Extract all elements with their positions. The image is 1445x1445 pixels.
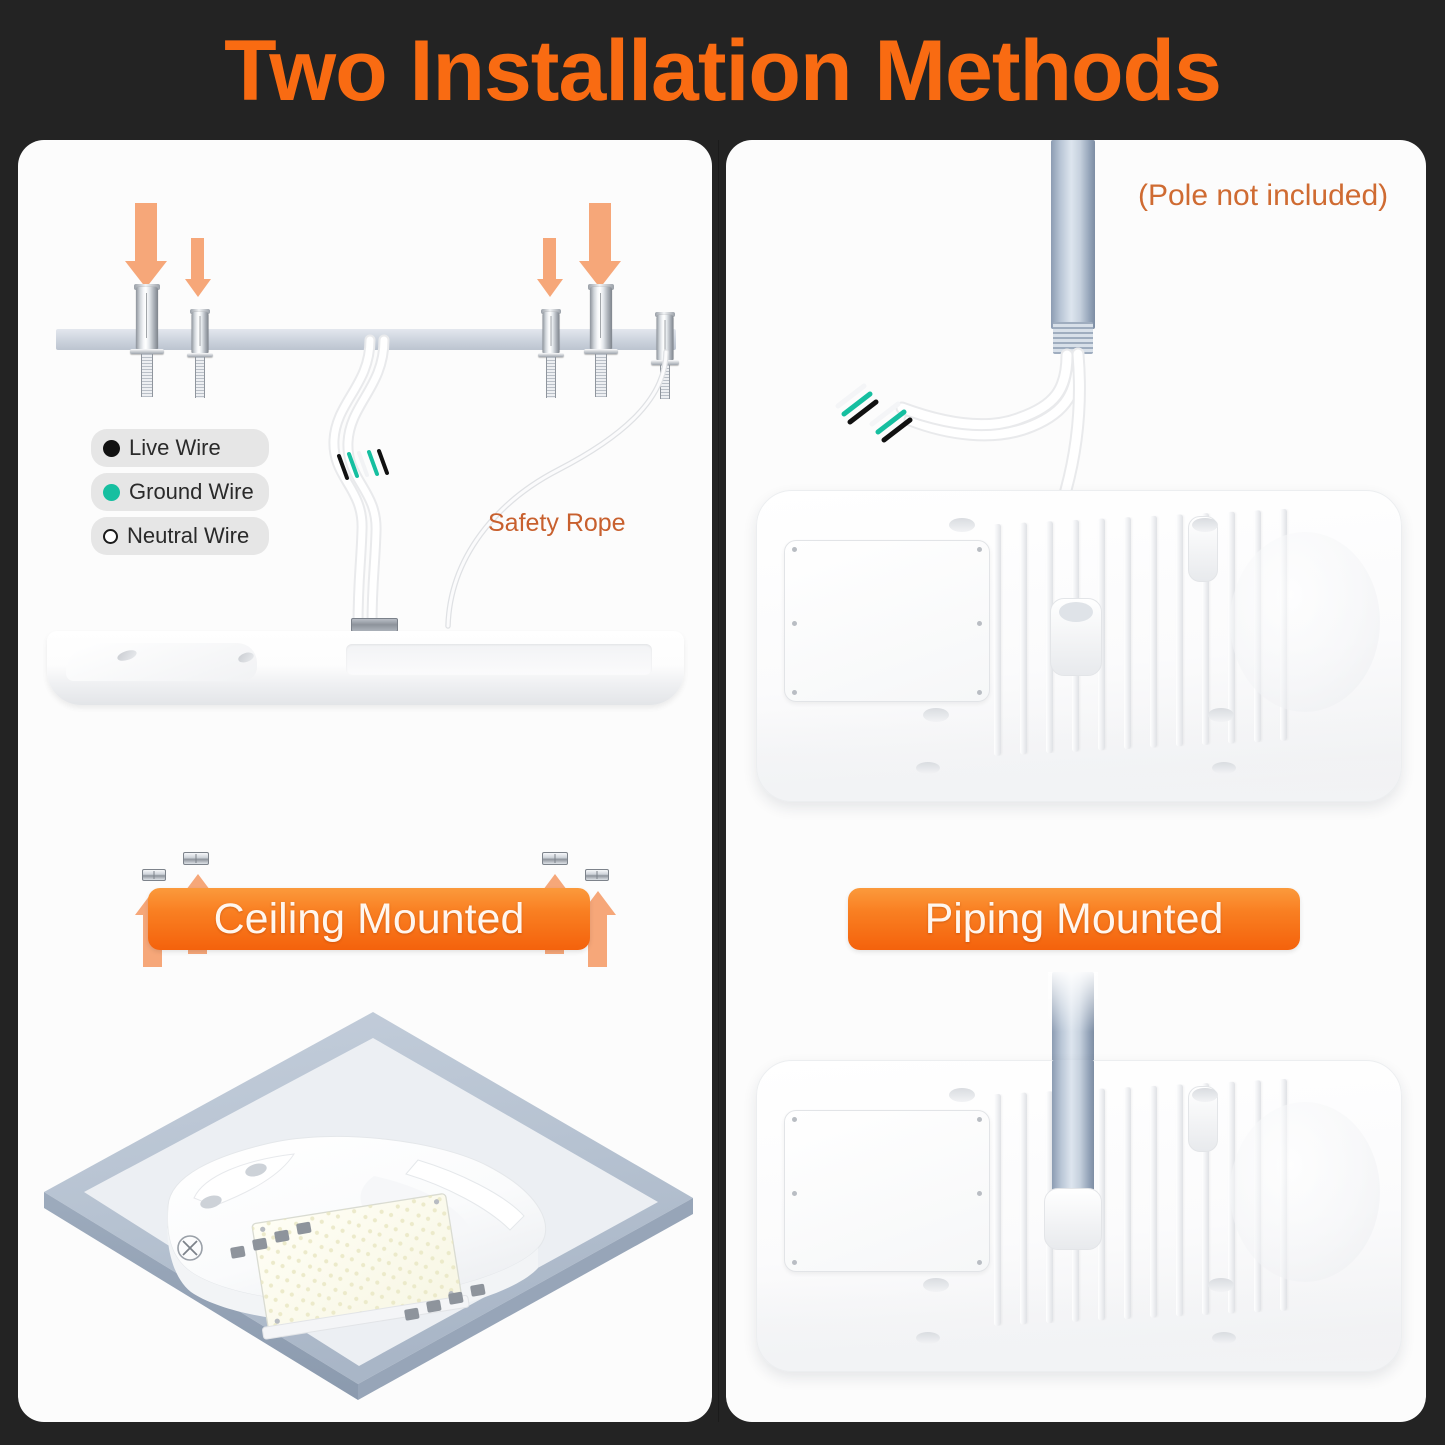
cable-gland-boss — [1044, 1188, 1102, 1250]
pole-inserted-segment — [1052, 1060, 1094, 1200]
pole-fade-mask — [1048, 972, 1098, 1032]
junction-box-cover — [784, 1110, 990, 1272]
reflector-dome — [1230, 532, 1380, 712]
fixture-side-profile — [47, 631, 684, 705]
panel-divider — [718, 140, 719, 1422]
cover-screw — [792, 547, 797, 552]
mount-hole-tr — [1192, 518, 1218, 532]
cover-screw — [792, 1191, 797, 1196]
mount-hole-bl — [923, 708, 949, 722]
lock-nut-4 — [585, 869, 609, 881]
lock-nut-1 — [142, 869, 166, 881]
skirt-hole-left — [916, 762, 940, 774]
skirt-hole-left — [916, 1332, 940, 1344]
cover-screw — [977, 1191, 982, 1196]
cover-screw — [792, 690, 797, 695]
pole-not-included-label: (Pole not included) — [1138, 179, 1388, 213]
skirt-hole-right — [1212, 762, 1236, 774]
lock-nut-2 — [183, 852, 209, 865]
mount-hole-bl — [923, 1278, 949, 1292]
mount-hole-tl — [949, 518, 975, 532]
banner-piping-mounted[interactable]: Piping Mounted — [848, 888, 1300, 950]
mount-hole-br — [1208, 708, 1234, 722]
panel-ceiling-mounted: Live Wire Ground Wire Neutral Wire — [18, 140, 712, 1422]
lock-nut-3 — [542, 852, 568, 865]
mount-hole-br — [1208, 1278, 1234, 1292]
junction-box-cover — [784, 540, 990, 702]
cover-screw — [977, 1117, 982, 1122]
cover-screw — [977, 547, 982, 552]
banner-ceiling-mounted[interactable]: Ceiling Mounted — [148, 888, 590, 950]
skirt-hole-right — [1212, 1332, 1236, 1344]
mounting-bracket — [66, 643, 257, 681]
panel-piping-mounted: (Pole not included) — [726, 140, 1426, 1422]
cable-gland-block — [351, 618, 398, 632]
reflector-dome — [1230, 1102, 1380, 1282]
infographic-stage: Two Installation Methods — [0, 0, 1445, 1445]
cover-screw — [977, 1260, 982, 1265]
fixture-top-view-piping — [756, 490, 1402, 802]
cable-gland-opening — [1059, 602, 1093, 622]
mount-hole-tr — [1192, 1088, 1218, 1102]
iso-ceiling-mounted-view — [18, 980, 712, 1400]
cover-screw — [977, 690, 982, 695]
fixture-recess — [346, 644, 652, 675]
up-arrow-4 — [588, 915, 607, 967]
power-cable — [18, 140, 712, 660]
cover-screw — [792, 621, 797, 626]
cover-screw — [792, 1260, 797, 1265]
page-title: Two Installation Methods — [0, 26, 1445, 116]
cover-screw — [977, 621, 982, 626]
mount-hole-tl — [949, 1088, 975, 1102]
safety-rope-label: Safety Rope — [488, 509, 626, 538]
fixture-top-view-piping-installed — [756, 1060, 1402, 1372]
cover-screw — [792, 1117, 797, 1122]
